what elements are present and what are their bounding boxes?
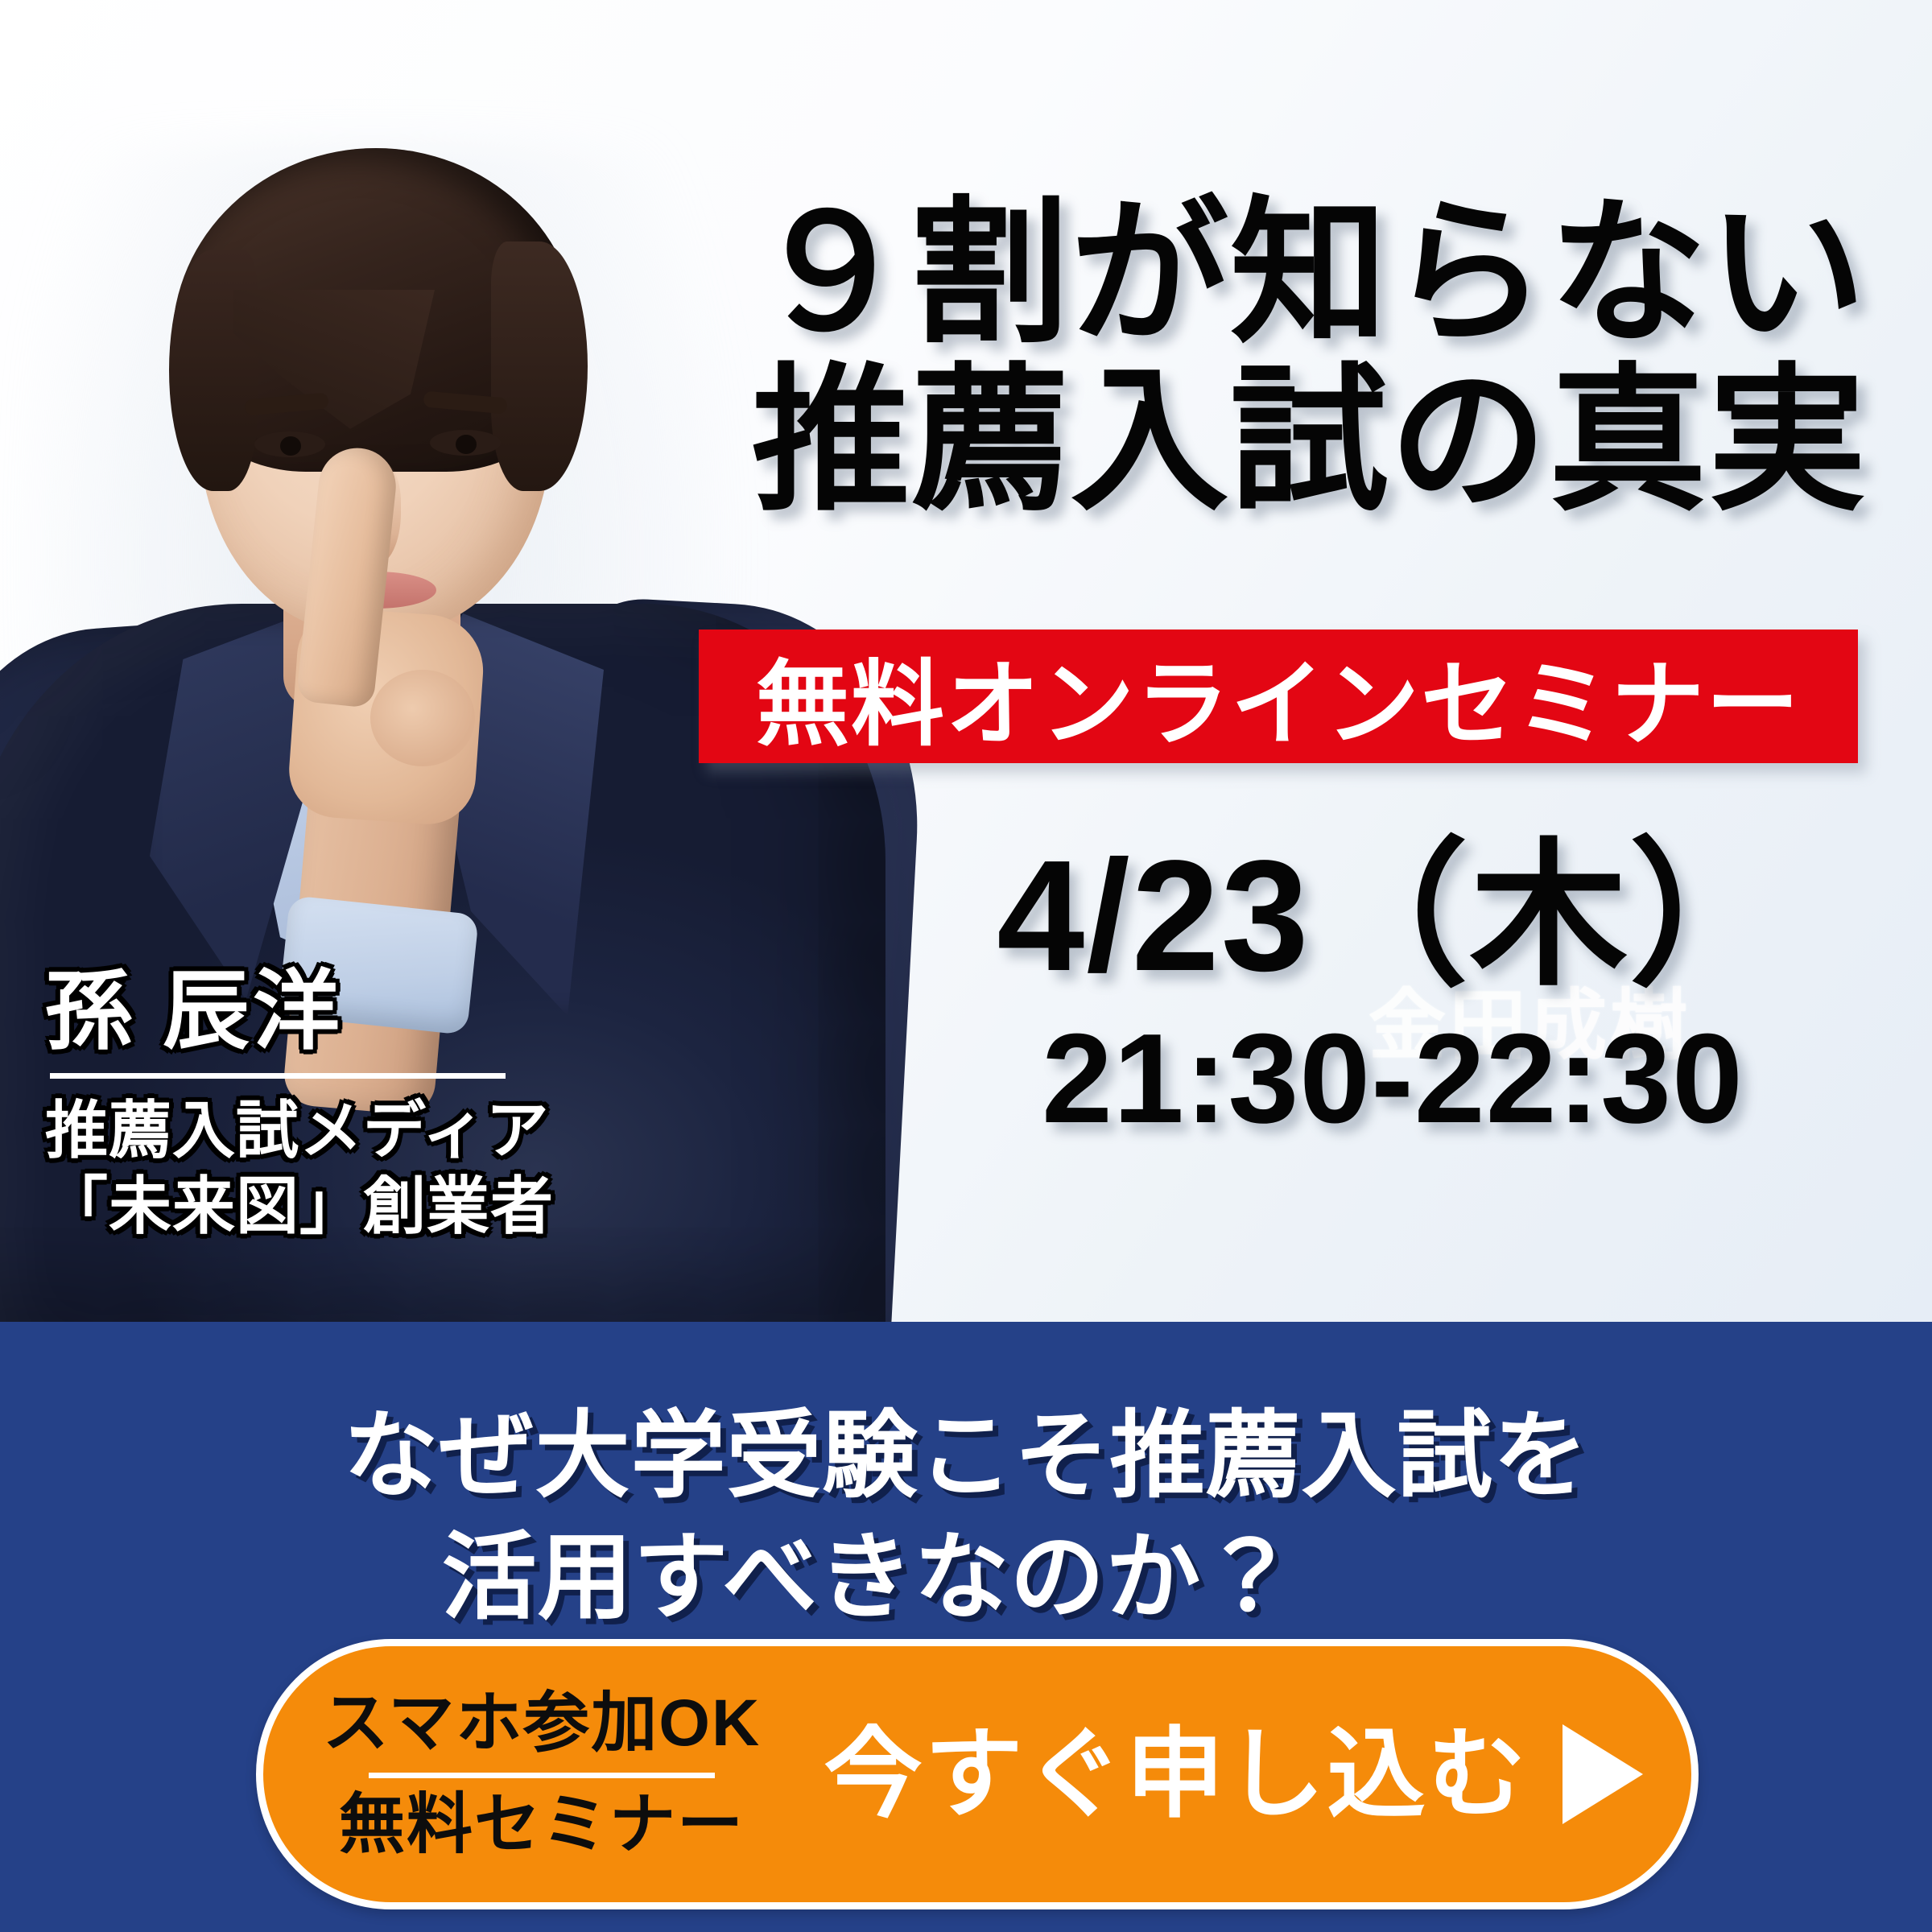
speaker-name: 孫 辰洋 [45, 963, 560, 1060]
cta-divider [369, 1773, 715, 1778]
cta-free-seminar-label: 無料セミナー [339, 1790, 745, 1861]
speaker-role-line-1: 推薦入試メディア [45, 1093, 560, 1169]
event-time: 21:30-22:30 [942, 1009, 1843, 1150]
blue-question-line-1: なぜ大学受験こそ推薦入試を [0, 1396, 1932, 1517]
blue-question-text: なぜ大学受験こそ推薦入試を 活用すべきなのか？ [0, 1396, 1932, 1639]
hero-section: 金田成樹 ９割が知らない 推薦入試の真実 無料オンラインセミナー 4/23（木）… [0, 0, 1932, 1322]
event-date: 4/23（木） [942, 837, 1843, 995]
speaker-divider [50, 1073, 506, 1079]
cta-main-label: 今すぐ申し込む [824, 1725, 1529, 1823]
headline-line-1: ９割が知らない [752, 190, 1868, 357]
pupil-right [456, 435, 477, 454]
speaker-caption: 孫 辰洋 推薦入試メディア 「未来図」創業者 [45, 963, 560, 1244]
apply-now-button[interactable]: スマホ参加OK 無料セミナー 今すぐ申し込む [256, 1639, 1699, 1909]
headline: ９割が知らない 推薦入試の真実 [752, 190, 1868, 525]
cta-action-group[interactable]: 今すぐ申し込む [791, 1724, 1691, 1824]
blue-question-line-2: 活用すべきなのか？ [0, 1517, 1932, 1639]
hand-knuckles [370, 670, 475, 766]
pupil-left [280, 436, 301, 456]
free-online-seminar-badge: 無料オンラインセミナー [699, 630, 1858, 763]
hair-side-left [169, 250, 258, 491]
cta-smartphone-ok-label: スマホ参加OK [323, 1688, 762, 1760]
speaker-role-line-2: 「未来図」創業者 [45, 1169, 560, 1245]
play-triangle-icon [1563, 1724, 1643, 1824]
cta-badge-group: スマホ参加OK 無料セミナー [263, 1688, 791, 1860]
headline-line-2: 推薦入試の真実 [752, 357, 1868, 525]
schedule-block: 4/23（木） 21:30-22:30 [942, 837, 1843, 1150]
hair-side-right [491, 242, 588, 491]
seminar-promo-banner: 金田成樹 ９割が知らない 推薦入試の真実 無料オンラインセミナー 4/23（木）… [0, 0, 1932, 1932]
free-online-seminar-badge-label: 無料オンラインセミナー [756, 629, 1801, 764]
